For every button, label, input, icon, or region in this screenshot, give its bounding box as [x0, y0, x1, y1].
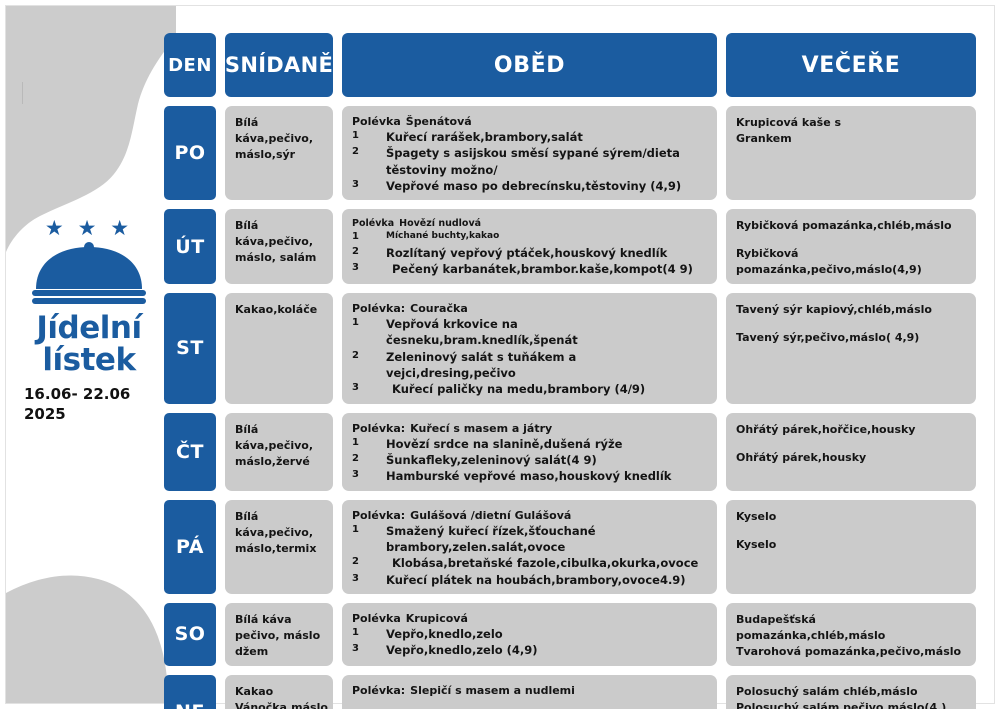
dinner-line: Kyselo [736, 537, 966, 553]
dinner-line: Rybičková pomazánka,chléb,máslo [736, 218, 966, 234]
dish-name: Pečený karbanátek,brambor.kaše,kompot(4 … [386, 261, 693, 277]
dish-name: Hamburské vepřové maso,houskový knedlík [386, 468, 671, 484]
soup-line: PolévkaKrupicová [352, 612, 707, 625]
menu-page: ★ ★ ★ Jídelní lístek 16.06- 22.06 2025 D… [0, 0, 1000, 709]
breakfast-cell: Bílá káva,pečivo, máslo, salám [225, 209, 333, 284]
breakfast-text: Kakao,koláče [235, 302, 323, 318]
day-badge: PÁ [164, 500, 216, 594]
dinner-line: Ohřátý párek,hořčice,housky [736, 422, 966, 438]
dinner-line: Tavený sýr,pečivo,máslo( 4,9) [736, 330, 966, 346]
lunch-dish: 3Hamburské vepřové maso,houskový knedlík [352, 468, 707, 484]
lunch-cell: Polévka:Slepičí s masem a nudlemi1Sekaná… [342, 675, 717, 709]
dish-name: Kuřecí paličky na medu,brambory (4/9) [386, 381, 645, 397]
soup-line: Polévka:Couračka [352, 302, 707, 315]
table-header-row: DEN SNÍDANĚ OBĚD VEČEŘE [164, 33, 976, 97]
soup-label: Polévka: [352, 302, 405, 315]
dinner-text: Budapešťská pomazánka,chléb,másloTvaroho… [736, 612, 966, 660]
dinner-cell: Krupicová kaše sGrankem [726, 106, 976, 200]
lunch-dish: 3Kuřecí plátek na houbách,brambory,ovoce… [352, 572, 707, 588]
dish-number: 3 [352, 642, 386, 658]
header-lunch: OBĚD [342, 33, 717, 97]
dinner-line: Tavený sýr kapiový,chléb,máslo [736, 302, 966, 318]
dinner-text: Ohřátý párek,hořčice,houskyOhřátý párek,… [736, 422, 966, 466]
lunch-cell: PolévkaHovězí nudlová1Míchané buchty,kak… [342, 209, 717, 284]
soup-label: Polévka [352, 612, 401, 625]
table-body: POBílá káva,pečivo, máslo,sýrPolévkaŠpen… [164, 106, 976, 709]
dish-name: Zeleninový salát s tuňákem a vejci,dresi… [386, 349, 707, 382]
breakfast-cell: Bílá káva,pečivo, máslo,žervé [225, 413, 333, 491]
lunch-dish: 2Šunkafleky,zeleninový salát(4 9) [352, 452, 707, 468]
table-row: STKakao,koláčePolévka:Couračka1Vepřová k… [164, 293, 976, 404]
lunch-dish: 1Vepřová krkovice na česneku,bram.knedlí… [352, 316, 707, 349]
day-badge: NE [164, 675, 216, 709]
dish-number: 2 [352, 349, 386, 382]
soup-name: Kuřecí s masem a játry [410, 422, 552, 435]
lunch-dish: 1Hovězí srdce na slanině,dušená rýže [352, 436, 707, 452]
lunch-dish: 2Zeleninový salát s tuňákem a vejci,dres… [352, 349, 707, 382]
dish-name: Vepřo,knedlo,zelo [386, 626, 503, 642]
dish-name: Rozlítaný vepřový ptáček,houskový knedlí… [386, 245, 667, 261]
dish-number: 3 [352, 572, 386, 588]
dinner-line: Krupicová kaše s [736, 115, 966, 131]
soup-name: Hovězí nudlová [399, 218, 481, 229]
breakfast-cell: Bílá káva,pečivo, máslo,termix [225, 500, 333, 594]
dish-name: Vepřová krkovice na česneku,bram.knedlík… [386, 316, 707, 349]
brand-title-line2: lístek [14, 345, 164, 377]
brand-block: ★ ★ ★ Jídelní lístek 16.06- 22.06 2025 [14, 218, 164, 425]
table-row: PÁBílá káva,pečivo, máslo,termixPolévka:… [164, 500, 976, 594]
soup-line: Polévka:Gulášová /dietní Gulášová [352, 509, 707, 522]
dish-name: Smažený kuřecí řízek,šťouchané brambory,… [386, 523, 707, 556]
dish-number: 2 [352, 245, 386, 261]
breakfast-text: Bílá káva,pečivo, máslo,sýr [235, 115, 323, 163]
dish-number: 2 [352, 452, 386, 468]
table-row: SOBílá káva pečivo, máslo džemPolévkaKru… [164, 603, 976, 666]
day-badge: SO [164, 603, 216, 666]
lunch-dish: 3Vepřo,knedlo,zelo (4,9) [352, 642, 707, 658]
dish-number: 3 [352, 468, 386, 484]
breakfast-text: Kakao Vánočka,máslo [235, 684, 323, 709]
dish-name: Hovězí srdce na slanině,dušená rýže [386, 436, 623, 452]
decorative-blob-bottom [6, 533, 176, 703]
date-year: 2025 [24, 404, 164, 424]
soup-line: PolévkaHovězí nudlová [352, 218, 707, 229]
date-range: 16.06- 22.06 [24, 384, 164, 404]
dish-name: Vepřové maso po debrecínsku,těstoviny (4… [386, 178, 681, 194]
soup-label: Polévka: [352, 509, 405, 522]
soup-name: Krupicová [406, 612, 468, 625]
dinner-line: Polosuchý salám chléb,máslo [736, 684, 966, 700]
lunch-cell: PolévkaŠpenátová1Kuřecí rarášek,brambory… [342, 106, 717, 200]
soup-label: Polévka [352, 218, 394, 229]
dish-name: Kuřecí plátek na houbách,brambory,ovoce4… [386, 572, 686, 588]
dinner-cell: Budapešťská pomazánka,chléb,másloTvaroho… [726, 603, 976, 666]
menu-table: DEN SNÍDANĚ OBĚD VEČEŘE POBílá káva,peči… [164, 33, 976, 709]
dish-number: 1 [352, 523, 386, 556]
day-badge: PO [164, 106, 216, 200]
dish-number: 2 [352, 145, 386, 178]
soup-label: Polévka [352, 115, 401, 128]
lunch-dish: 3Pečený karbanátek,brambor.kaše,kompot(4… [352, 261, 707, 277]
soup-name: Couračka [410, 302, 468, 315]
dinner-cell: Rybičková pomazánka,chléb,másloRybičková… [726, 209, 976, 284]
table-row: ČTBílá káva,pečivo, máslo,žervéPolévka:K… [164, 413, 976, 491]
dinner-cell: Tavený sýr kapiový,chléb,másloTavený sýr… [726, 293, 976, 404]
soup-label: Polévka: [352, 422, 405, 435]
lunch-dish: 2Klobása,bretaňské fazole,cibulka,okurka… [352, 555, 707, 571]
dinner-text: KyseloKyselo [736, 509, 966, 553]
dish-number: 1 [352, 436, 386, 452]
lunch-cell: Polévka:Couračka1Vepřová krkovice na čes… [342, 293, 717, 404]
table-row: POBílá káva,pečivo, máslo,sýrPolévkaŠpen… [164, 106, 976, 200]
breakfast-cell: Kakao,koláče [225, 293, 333, 404]
dinner-text: Polosuchý salám chléb,másloPolosuchý sal… [736, 684, 966, 709]
three-stars-icon: ★ ★ ★ [14, 218, 164, 239]
dish-number: 1 [352, 230, 386, 244]
dinner-line: Rybičková pomazánka,pečivo,máslo(4,9) [736, 246, 966, 278]
dish-number: 3 [352, 261, 386, 277]
dinner-line: Polosuchý salám pečivo,máslo(4.) [736, 700, 966, 709]
breakfast-text: Bílá káva pečivo, máslo džem [235, 612, 323, 660]
dish-number: 1 [352, 129, 386, 145]
page-title: Jídelní lístek [14, 313, 164, 376]
day-badge: ÚT [164, 209, 216, 284]
dish-number: 3 [352, 178, 386, 194]
lunch-dish: 1Smažený kuřecí řízek,šťouchané brambory… [352, 523, 707, 556]
dish-name: Špagety s asijskou směsí sypané sýrem/di… [386, 145, 707, 178]
breakfast-cell: Kakao Vánočka,máslo [225, 675, 333, 709]
soup-line: Polévka:Slepičí s masem a nudlemi [352, 684, 707, 697]
dinner-cell: KyseloKyselo [726, 500, 976, 594]
lunch-cell: Polévka:Gulášová /dietní Gulášová1Smažen… [342, 500, 717, 594]
header-day: DEN [164, 33, 216, 97]
dish-number: 1 [352, 626, 386, 642]
breakfast-cell: Bílá káva pečivo, máslo džem [225, 603, 333, 666]
day-badge: ČT [164, 413, 216, 491]
soup-name: Špenátová [406, 115, 472, 128]
decorative-tick [22, 82, 23, 104]
dinner-text: Krupicová kaše sGrankem [736, 115, 966, 147]
table-row: NEKakao Vánočka,másloPolévka:Slepičí s m… [164, 675, 976, 709]
lunch-dish: 3Kuřecí paličky na medu,brambory (4/9) [352, 381, 707, 397]
dinner-text: Rybičková pomazánka,chléb,másloRybičková… [736, 218, 966, 278]
dish-name: Šunkafleky,zeleninový salát(4 9) [386, 452, 597, 468]
food-cover-icon [30, 241, 148, 307]
breakfast-text: Bílá káva,pečivo, máslo,termix [235, 509, 323, 557]
dish-name: Klobása,bretaňské fazole,cibulka,okurka,… [386, 555, 698, 571]
dish-name: Míchané buchty,kakao [386, 230, 499, 244]
dish-number: 1 [352, 316, 386, 349]
soup-name: Gulášová /dietní Gulášová [410, 509, 571, 522]
lunch-dish: 1Vepřo,knedlo,zelo [352, 626, 707, 642]
soup-line: PolévkaŠpenátová [352, 115, 707, 128]
lunch-dish: 1Míchané buchty,kakao [352, 230, 707, 244]
dish-number: 3 [352, 381, 386, 397]
dish-name: Kuřecí rarášek,brambory,salát [386, 129, 583, 145]
table-row: ÚTBílá káva,pečivo, máslo, salámPolévkaH… [164, 209, 976, 284]
dinner-line: Ohřátý párek,housky [736, 450, 966, 466]
dinner-line: Tvarohová pomazánka,pečivo,máslo [736, 644, 966, 660]
lunch-cell: PolévkaKrupicová1Vepřo,knedlo,zelo3Vepřo… [342, 603, 717, 666]
breakfast-text: Bílá káva,pečivo, máslo,žervé [235, 422, 323, 470]
dinner-line: Kyselo [736, 509, 966, 525]
spacer [352, 698, 707, 709]
header-breakfast: SNÍDANĚ [225, 33, 333, 97]
lunch-dish: 1Kuřecí rarášek,brambory,salát [352, 129, 707, 145]
lunch-dish: 2Špagety s asijskou směsí sypané sýrem/d… [352, 145, 707, 178]
dinner-line: Grankem [736, 131, 966, 147]
lunch-cell: Polévka:Kuřecí s masem a játry1Hovězí sr… [342, 413, 717, 491]
soup-name: Slepičí s masem a nudlemi [410, 684, 575, 697]
soup-label: Polévka: [352, 684, 405, 697]
dinner-text: Tavený sýr kapiový,chléb,másloTavený sýr… [736, 302, 966, 346]
header-dinner: VEČEŘE [726, 33, 976, 97]
dish-name: Vepřo,knedlo,zelo (4,9) [386, 642, 538, 658]
brand-title-line1: Jídelní [14, 313, 164, 345]
dinner-line: Budapešťská pomazánka,chléb,máslo [736, 612, 966, 644]
dinner-cell: Ohřátý párek,hořčice,houskyOhřátý párek,… [726, 413, 976, 491]
breakfast-cell: Bílá káva,pečivo, máslo,sýr [225, 106, 333, 200]
date-range-block: 16.06- 22.06 2025 [14, 384, 164, 425]
lunch-dish: 2Rozlítaný vepřový ptáček,houskový knedl… [352, 245, 707, 261]
day-badge: ST [164, 293, 216, 404]
dish-number: 2 [352, 555, 386, 571]
breakfast-text: Bílá káva,pečivo, máslo, salám [235, 218, 323, 266]
lunch-dish: 3Vepřové maso po debrecínsku,těstoviny (… [352, 178, 707, 194]
dinner-cell: Polosuchý salám chléb,másloPolosuchý sal… [726, 675, 976, 709]
soup-line: Polévka:Kuřecí s masem a játry [352, 422, 707, 435]
